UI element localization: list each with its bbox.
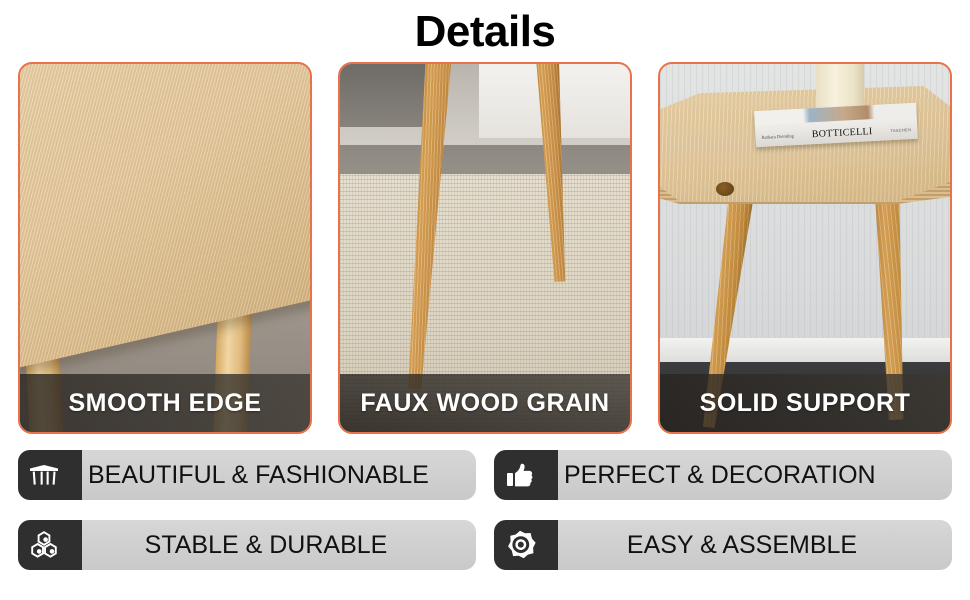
- table-icon: [18, 450, 70, 500]
- panel-caption-bar: FAUX WOOD GRAIN: [340, 374, 630, 432]
- baseboard: [660, 338, 950, 364]
- panel-caption-bar: SOLID SUPPORT: [660, 374, 950, 432]
- leg-joint-peg: [716, 182, 734, 196]
- feature-badge-easy-assemble: EASY & ASSEMBLE: [494, 520, 952, 570]
- dark-furniture-block: [340, 64, 433, 127]
- book-title: BOTTICELLI: [812, 126, 873, 140]
- feature-badge-perfect-decoration: PERFECT & DECORATION: [494, 450, 952, 500]
- book-publisher: TASCHEN: [890, 127, 911, 133]
- panel-caption-text: FAUX WOOD GRAIN: [360, 389, 609, 418]
- feature-label: STABLE & DURABLE: [70, 531, 476, 560]
- hexagons-icon: [18, 520, 70, 570]
- book-author: Barbara Deimling: [761, 133, 794, 140]
- feature-label: PERFECT & DECORATION: [546, 461, 952, 490]
- panel-caption-text: SMOOTH EDGE: [68, 389, 261, 418]
- feature-label: BEAUTIFUL & FASHIONABLE: [70, 461, 476, 490]
- page-title: Details: [0, 6, 970, 58]
- feature-badge-stable-durable: STABLE & DURABLE: [18, 520, 476, 570]
- feature-label: EASY & ASSEMBLE: [546, 531, 952, 560]
- detail-panel-solid-support: Barbara Deimling BOTTICELLI TASCHEN SOLI…: [658, 62, 952, 434]
- detail-panel-row: SMOOTH EDGE FAUX WOOD GRAIN: [18, 62, 952, 434]
- feature-badge-grid: BEAUTIFUL & FASHIONABLE PERFECT & DECORA…: [18, 450, 952, 570]
- thumbs-up-icon: [494, 450, 546, 500]
- gear-icon: [494, 520, 546, 570]
- detail-panel-smooth-edge: SMOOTH EDGE: [18, 62, 312, 434]
- panel-caption-bar: SMOOTH EDGE: [20, 374, 310, 432]
- feature-badge-beautiful-fashionable: BEAUTIFUL & FASHIONABLE: [18, 450, 476, 500]
- detail-panel-faux-wood-grain: FAUX WOOD GRAIN: [338, 62, 632, 434]
- panel-caption-text: SOLID SUPPORT: [700, 389, 911, 418]
